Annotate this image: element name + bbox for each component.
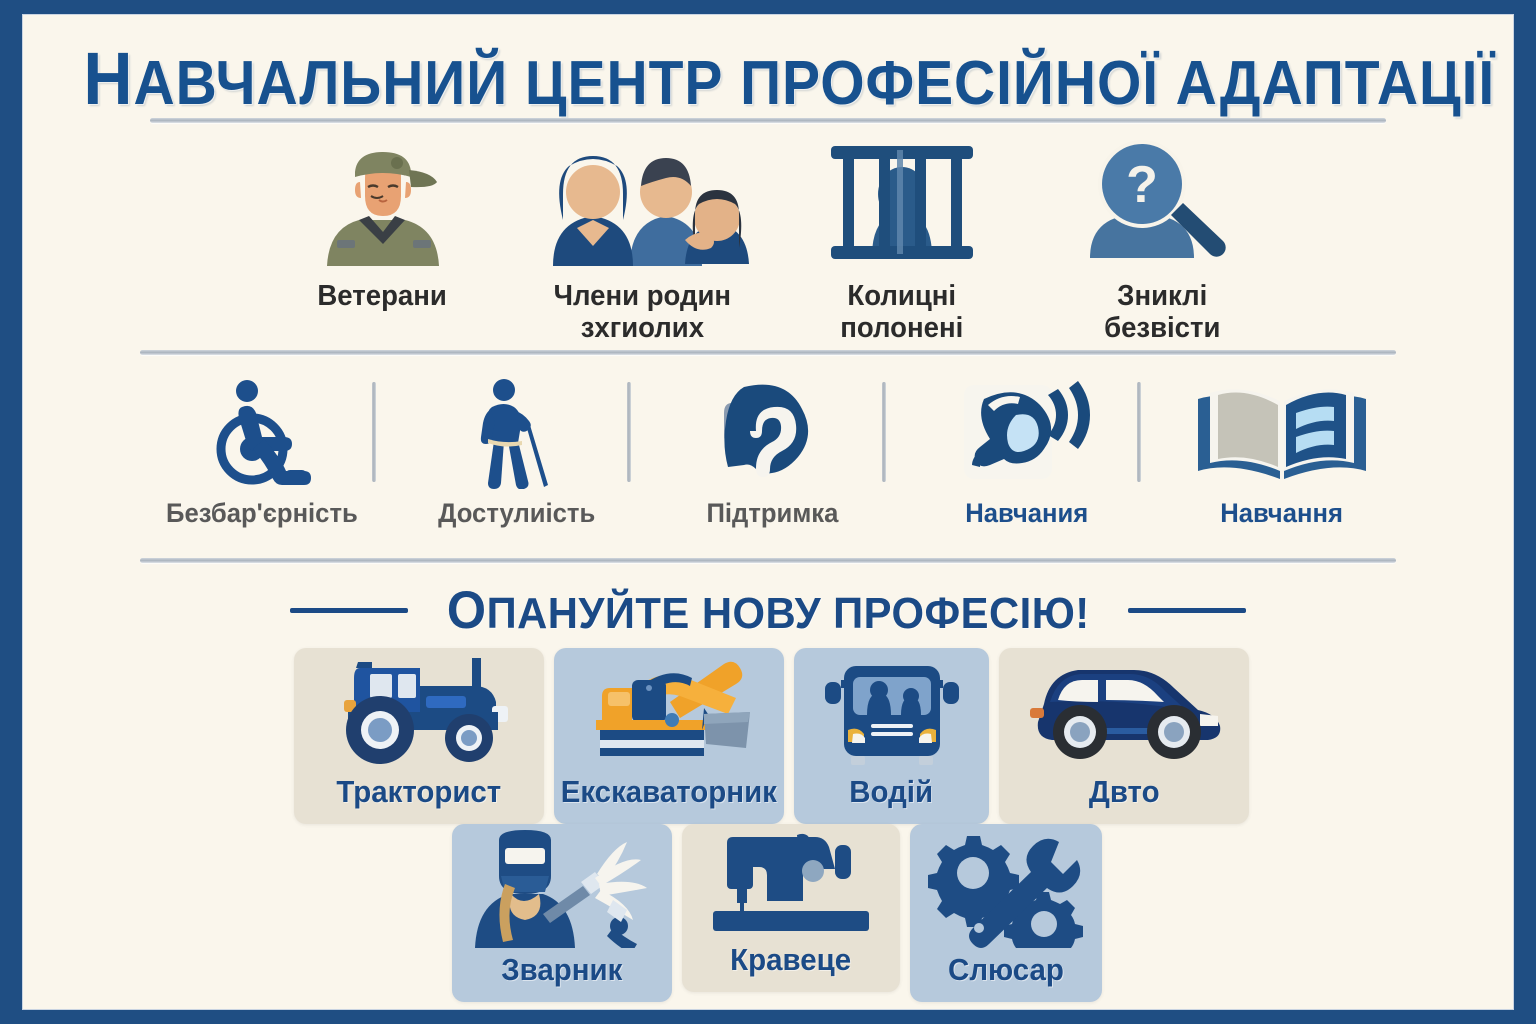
audience-item-missing: ? Зниклі безвісти	[1042, 136, 1282, 345]
audience-label-line2: зхгиолих	[553, 312, 730, 344]
missing-person-magnifier-icon: ?	[1072, 136, 1252, 266]
feature-item-label: Безбар'єрність	[166, 498, 358, 529]
divider-above-features	[140, 350, 1396, 355]
feature-item-barrier-free: Безбар'єрність	[162, 374, 362, 529]
profession-card-auto[interactable]: Двто	[999, 648, 1249, 824]
ear-hearing-icon	[712, 374, 832, 492]
audience-item-families: Члени родин зхгиолих	[522, 136, 762, 345]
section-heading-text: ОПАНУЙТЕ НОВУ ПРОФЕСІЮ!	[447, 580, 1090, 641]
feature-item-accessibility: Достулиість	[417, 374, 617, 529]
svg-text:?: ?	[1126, 156, 1158, 214]
support-feature-row: Безбар'єрність Достулиість	[162, 374, 1382, 554]
section-heading-initial: О	[447, 581, 487, 640]
feature-item-label: Навчания	[966, 498, 1089, 529]
profession-card-label: Тракторист	[337, 774, 502, 810]
feature-item-label: Підтримка	[706, 498, 838, 529]
audience-item-former-captives: Колицні полонені	[782, 136, 1022, 345]
profession-card-excavator-operator[interactable]: Екскаваторник	[554, 648, 784, 824]
profession-card-row-2: Зварник Кравеце	[452, 824, 1102, 1002]
welder-icon	[452, 824, 672, 952]
gears-wrench-icon	[910, 824, 1102, 952]
divider-below-features	[140, 558, 1396, 563]
feature-divider	[627, 382, 631, 482]
profession-card-tractor-operator[interactable]: Тракторист	[294, 648, 544, 824]
feature-item-label: Навчання	[1221, 498, 1344, 529]
sewing-machine-icon	[682, 824, 900, 942]
audience-item-veterans: Ветерани	[262, 136, 502, 312]
audience-item-label: Ветерани	[317, 280, 446, 312]
profession-card-tailor[interactable]: Кравеце	[682, 824, 900, 992]
audience-item-label: Колицні полонені	[840, 280, 963, 345]
audience-item-label: Члени родин зхгиолих	[553, 280, 730, 345]
profession-card-label: Кравеце	[731, 942, 852, 978]
poster-canvas: НАВЧАЛЬНИЙ ЦЕНТР ПРОФЕСІЙНОЇ АДАПТАЦІЇ	[22, 14, 1514, 1010]
feature-divider	[1137, 382, 1141, 482]
audience-group-row: Ветерани Члени	[262, 136, 1282, 346]
audience-label-line1: Ветерани	[317, 280, 446, 312]
page-title: НАВЧАЛЬНИЙ ЦЕНТР ПРОФЕСІЙНОЇ АДАПТАЦІЇ	[22, 36, 1514, 121]
audience-label-line1: Члени родин	[553, 280, 730, 312]
audience-label-line2: полонені	[840, 312, 963, 344]
excavator-icon	[554, 648, 784, 774]
profession-card-label: Зварник	[501, 952, 622, 988]
feature-item-training-book: Навчання	[1182, 374, 1382, 529]
section-heading: ОПАНУЙТЕ НОВУ ПРОФЕСІЮ!	[22, 580, 1514, 641]
profession-card-welder[interactable]: Зварник	[452, 824, 672, 1002]
page-title-rest: АВЧАЛЬНИЙ ЦЕНТР ПРОФЕСІЙНОЇ АДАПТАЦІЇ	[133, 49, 1495, 118]
audience-label-line1: Колицні	[840, 280, 963, 312]
wheelchair-icon	[202, 374, 322, 492]
section-heading-rest: ПАНУЙТЕ НОВУ ПРОФЕСІЮ!	[486, 589, 1089, 638]
profession-card-locksmith[interactable]: Слюсар	[910, 824, 1102, 1002]
family-icon	[535, 136, 750, 266]
page-title-initial: Н	[83, 37, 133, 120]
feature-item-label: Достулиість	[438, 498, 595, 529]
tractor-icon	[294, 648, 544, 774]
bus-icon	[794, 648, 989, 774]
feature-item-training-aid: Навчания	[927, 374, 1127, 529]
profession-card-label: Двто	[1089, 774, 1160, 810]
heading-rule-left	[290, 608, 408, 613]
profession-card-driver[interactable]: Водій	[794, 648, 989, 824]
divider-under-title	[150, 118, 1386, 123]
profession-card-label: Слюсар	[948, 952, 1064, 988]
profession-card-label: Екскаваторник	[561, 774, 777, 810]
soldier-icon	[297, 136, 467, 266]
hearing-aid-waves-icon	[960, 374, 1095, 492]
profession-card-row-1: Тракторист	[294, 648, 1249, 824]
feature-divider	[372, 382, 376, 482]
audience-item-label: Зниклі безвісти	[1104, 280, 1220, 345]
car-icon	[999, 648, 1249, 774]
white-cane-walker-icon	[462, 374, 572, 492]
feature-item-support: Підтримка	[672, 374, 872, 529]
audience-label-line1: Зниклі	[1104, 280, 1220, 312]
audience-label-line2: безвісти	[1104, 312, 1220, 344]
feature-divider	[882, 382, 886, 482]
heading-rule-right	[1128, 608, 1246, 613]
prisoner-behind-bars-icon	[817, 136, 987, 266]
open-book-icon	[1192, 374, 1372, 492]
profession-card-label: Водій	[850, 774, 934, 810]
page-title-text: НАВЧАЛЬНИЙ ЦЕНТР ПРОФЕСІЙНОЇ АДАПТАЦІЇ	[83, 36, 1495, 121]
